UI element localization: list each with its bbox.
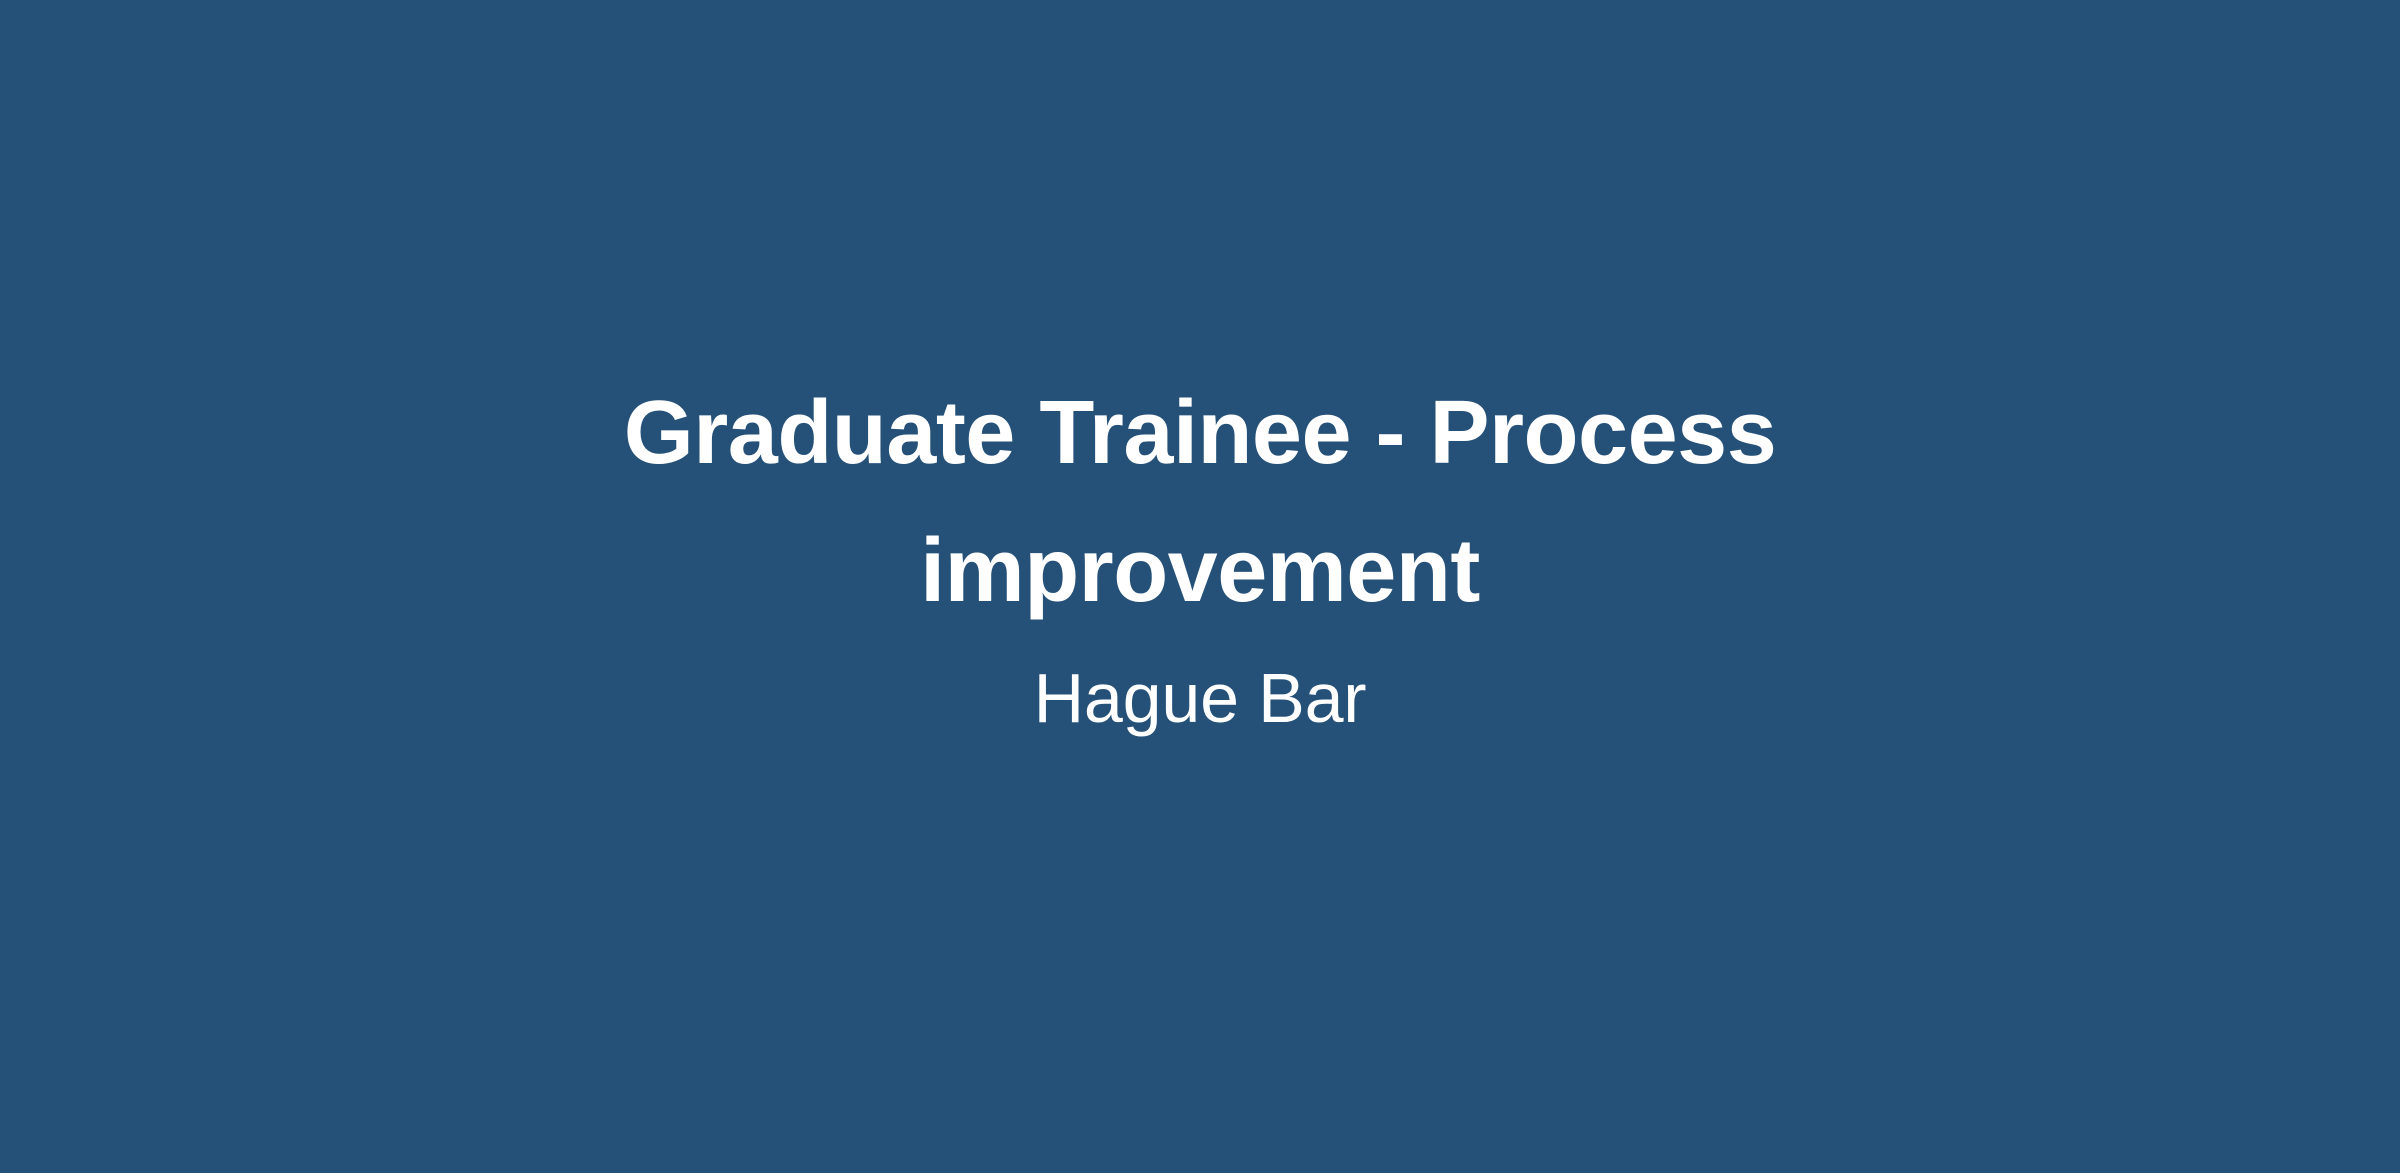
title-slide: Graduate Trainee - Process improvement H…: [0, 0, 2400, 1173]
title-block: Graduate Trainee - Process improvement H…: [200, 365, 2200, 744]
slide-title: Graduate Trainee - Process improvement: [390, 365, 2010, 640]
slide-subtitle: Hague Bar: [1034, 640, 1367, 744]
